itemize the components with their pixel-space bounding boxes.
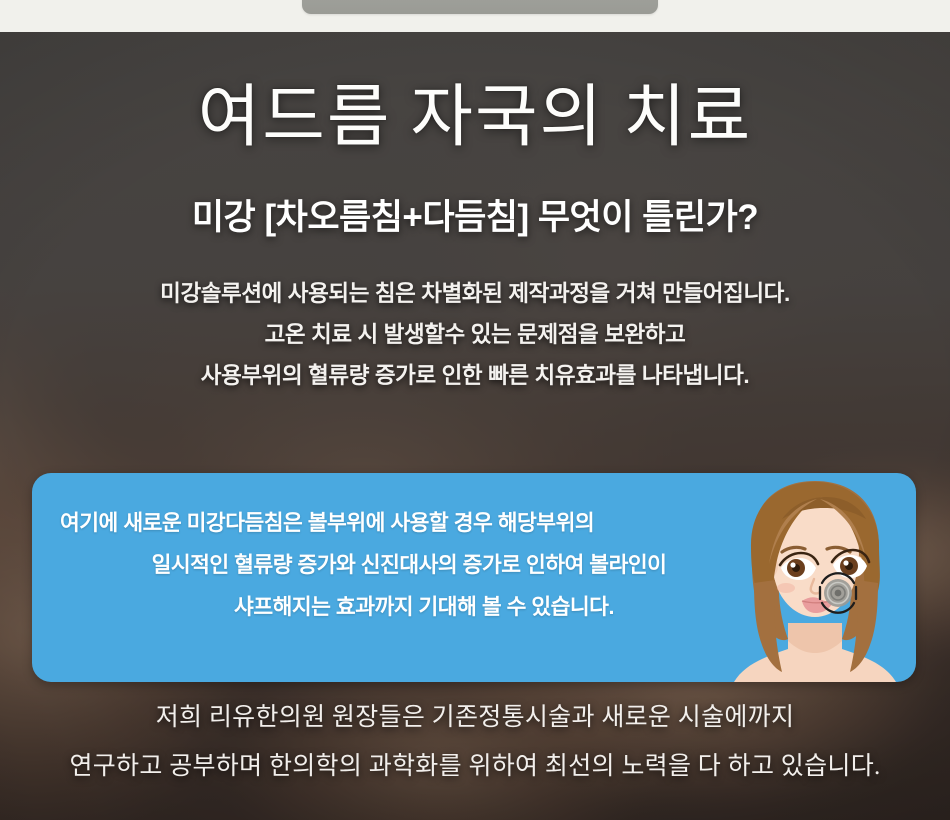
top-strip [0,0,950,32]
cheek-blush-left [777,583,795,593]
body-line-3: 사용부위의 혈류량 증가로 인한 빠른 치유효과를 나타냅니다. [0,356,950,397]
page-subtitle: 미강 [차오름침+다듬침] 무엇이 틀린가? [0,189,950,240]
footer-line-2: 연구하고 공부하며 한의학의 과학화를 위하여 최선의 노력을 다 하고 있습니… [0,743,950,792]
callout-paragraph: 여기에 새로운 미강다듬침은 볼부위에 사용할 경우 해당부위의 일시적인 혈류… [58,503,748,629]
callout-line-1: 여기에 새로운 미강다듬침은 볼부위에 사용할 경우 해당부위의 [58,503,748,545]
footer-line-1: 저희 리유한의원 원장들은 기존정통시술과 새로운 시술에까지 [0,694,950,743]
page-title: 여드름 자국의 치료 [0,80,950,155]
blue-callout-box: 여기에 새로운 미강다듬침은 볼부위에 사용할 경우 해당부위의 일시적인 혈류… [32,473,916,682]
body-line-1: 미강솔루션에 사용되는 침은 차별화된 제작과정을 거쳐 만들어집니다. [0,274,950,315]
cheek-scan-marker [820,573,856,613]
footer-paragraph: 저희 리유한의원 원장들은 기존정통시술과 새로운 시술에까지 연구하고 공부하… [0,694,950,792]
body-line-2: 고온 치료 시 발생할수 있는 문제점을 보완하고 [0,315,950,356]
callout-line-3: 샤프해지는 효과까지 기대해 볼 수 있습니다. [58,587,748,629]
woman-face-illustration [716,473,916,682]
hero-content: 여드름 자국의 치료 미강 [차오름침+다듬침] 무엇이 틀린가? 미강솔루션에… [0,80,950,397]
hero-section: 여드름 자국의 치료 미강 [차오름침+다듬침] 무엇이 틀린가? 미강솔루션에… [0,32,950,820]
callout-line-2: 일시적인 혈류량 증가와 신진대사의 증가로 인하여 볼라인이 [58,545,748,587]
body-paragraph: 미강솔루션에 사용되는 침은 차별화된 제작과정을 거쳐 만들어집니다. 고온 … [0,274,950,397]
top-pill-button[interactable] [302,0,658,14]
promotional-page: 여드름 자국의 치료 미강 [차오름침+다듬침] 무엇이 틀린가? 미강솔루션에… [0,0,950,820]
